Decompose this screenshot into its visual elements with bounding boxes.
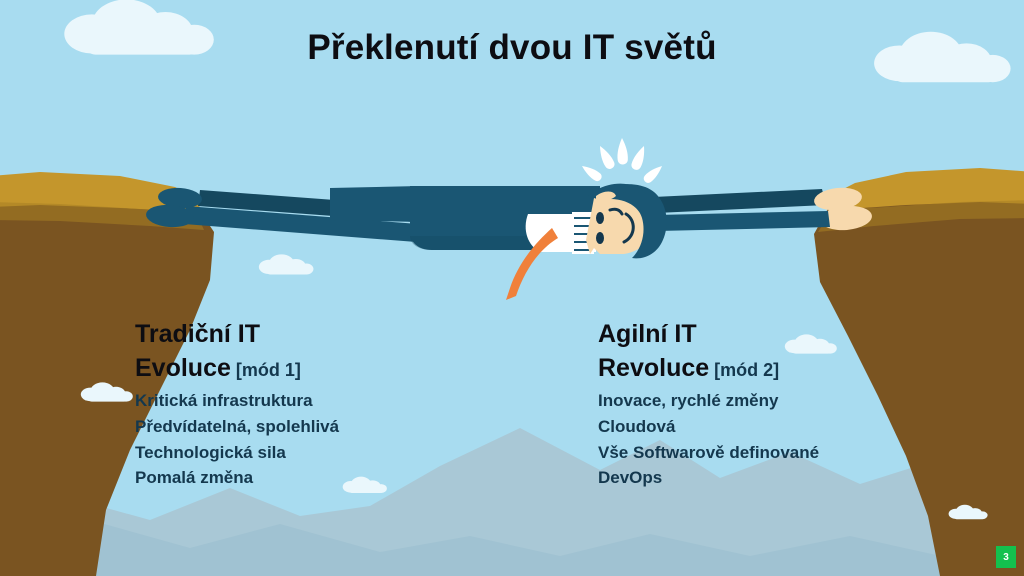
head: [586, 184, 667, 259]
eye-lower: [596, 232, 604, 244]
list-item: DevOps: [598, 465, 1018, 491]
column-traditional-it: Tradiční IT Evoluce[mód 1] Kritická infr…: [135, 318, 555, 491]
column-mode-tag: [mód 2]: [714, 360, 779, 380]
column-heading-primary: Tradiční IT: [135, 318, 555, 350]
column-heading-secondary: Revoluce[mód 2]: [598, 352, 1018, 384]
list-item: Cloudová: [598, 414, 1018, 440]
list-item: Kritická infrastruktura: [135, 388, 555, 414]
list-item: Pomalá změna: [135, 465, 555, 491]
eye-upper: [596, 212, 604, 224]
column-heading-secondary-text: Evoluce: [135, 354, 231, 382]
page-title: Překlenutí dvou IT světů: [0, 28, 1024, 68]
list-item: Technologická sila: [135, 440, 555, 466]
column-agile-it: Agilní IT Revoluce[mód 2] Inovace, rychl…: [598, 318, 1018, 491]
slide-number-badge: 3: [996, 546, 1016, 568]
column-heading-primary: Agilní IT: [598, 318, 1018, 350]
column-bullet-list: Inovace, rychlé změny Cloudová Vše Softw…: [598, 388, 1018, 491]
list-item: Inovace, rychlé změny: [598, 388, 1018, 414]
list-item: Předvídatelná, spolehlivá: [135, 414, 555, 440]
column-mode-tag: [mód 1]: [236, 360, 301, 380]
column-bullet-list: Kritická infrastruktura Předvídatelná, s…: [135, 388, 555, 491]
column-heading-secondary: Evoluce[mód 1]: [135, 352, 555, 384]
list-item: Vše Softwarově definované: [598, 440, 1018, 466]
jacket-shoulder: [330, 186, 420, 222]
column-heading-secondary-text: Revoluce: [598, 354, 709, 382]
slide-canvas: Překlenutí dvou IT světů Tradiční IT Evo…: [0, 0, 1024, 576]
